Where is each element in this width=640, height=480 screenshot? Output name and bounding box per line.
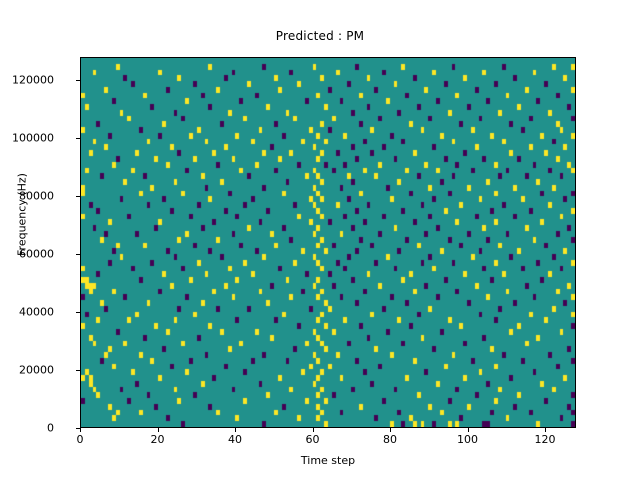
x-axis-tick-label: 40 — [205, 433, 265, 446]
x-axis-tick-mark — [390, 428, 391, 432]
x-axis-tick-label: 20 — [128, 433, 188, 446]
y-axis-label: Frequency (Hz) — [16, 25, 29, 405]
page-title: Predicted : PM — [0, 29, 640, 43]
x-axis-tick-mark — [468, 428, 469, 432]
y-axis-tick-mark — [76, 138, 80, 139]
y-axis-tick-label: 0 — [0, 422, 54, 435]
x-axis-tick-mark — [545, 428, 546, 432]
figure-canvas: Predicted : PM 0200004000060000800001000… — [0, 0, 640, 480]
x-axis-tick-label: 60 — [283, 433, 343, 446]
y-axis-tick-mark — [76, 312, 80, 313]
heatmap-image — [81, 58, 575, 427]
x-axis-tick-label: 100 — [438, 433, 498, 446]
y-axis-tick-mark — [76, 370, 80, 371]
x-axis-tick-mark — [80, 428, 81, 432]
x-axis-tick-label: 80 — [360, 433, 420, 446]
x-axis-label: Time step — [80, 454, 576, 467]
y-axis-tick-mark — [76, 80, 80, 81]
x-axis-tick-label: 0 — [50, 433, 110, 446]
y-axis-tick-mark — [76, 254, 80, 255]
y-axis-tick-mark — [76, 196, 80, 197]
x-axis-tick-mark — [313, 428, 314, 432]
x-axis-tick-mark — [158, 428, 159, 432]
x-axis-tick-mark — [235, 428, 236, 432]
x-axis-tick-label: 120 — [515, 433, 575, 446]
heatmap-axes — [80, 57, 576, 428]
